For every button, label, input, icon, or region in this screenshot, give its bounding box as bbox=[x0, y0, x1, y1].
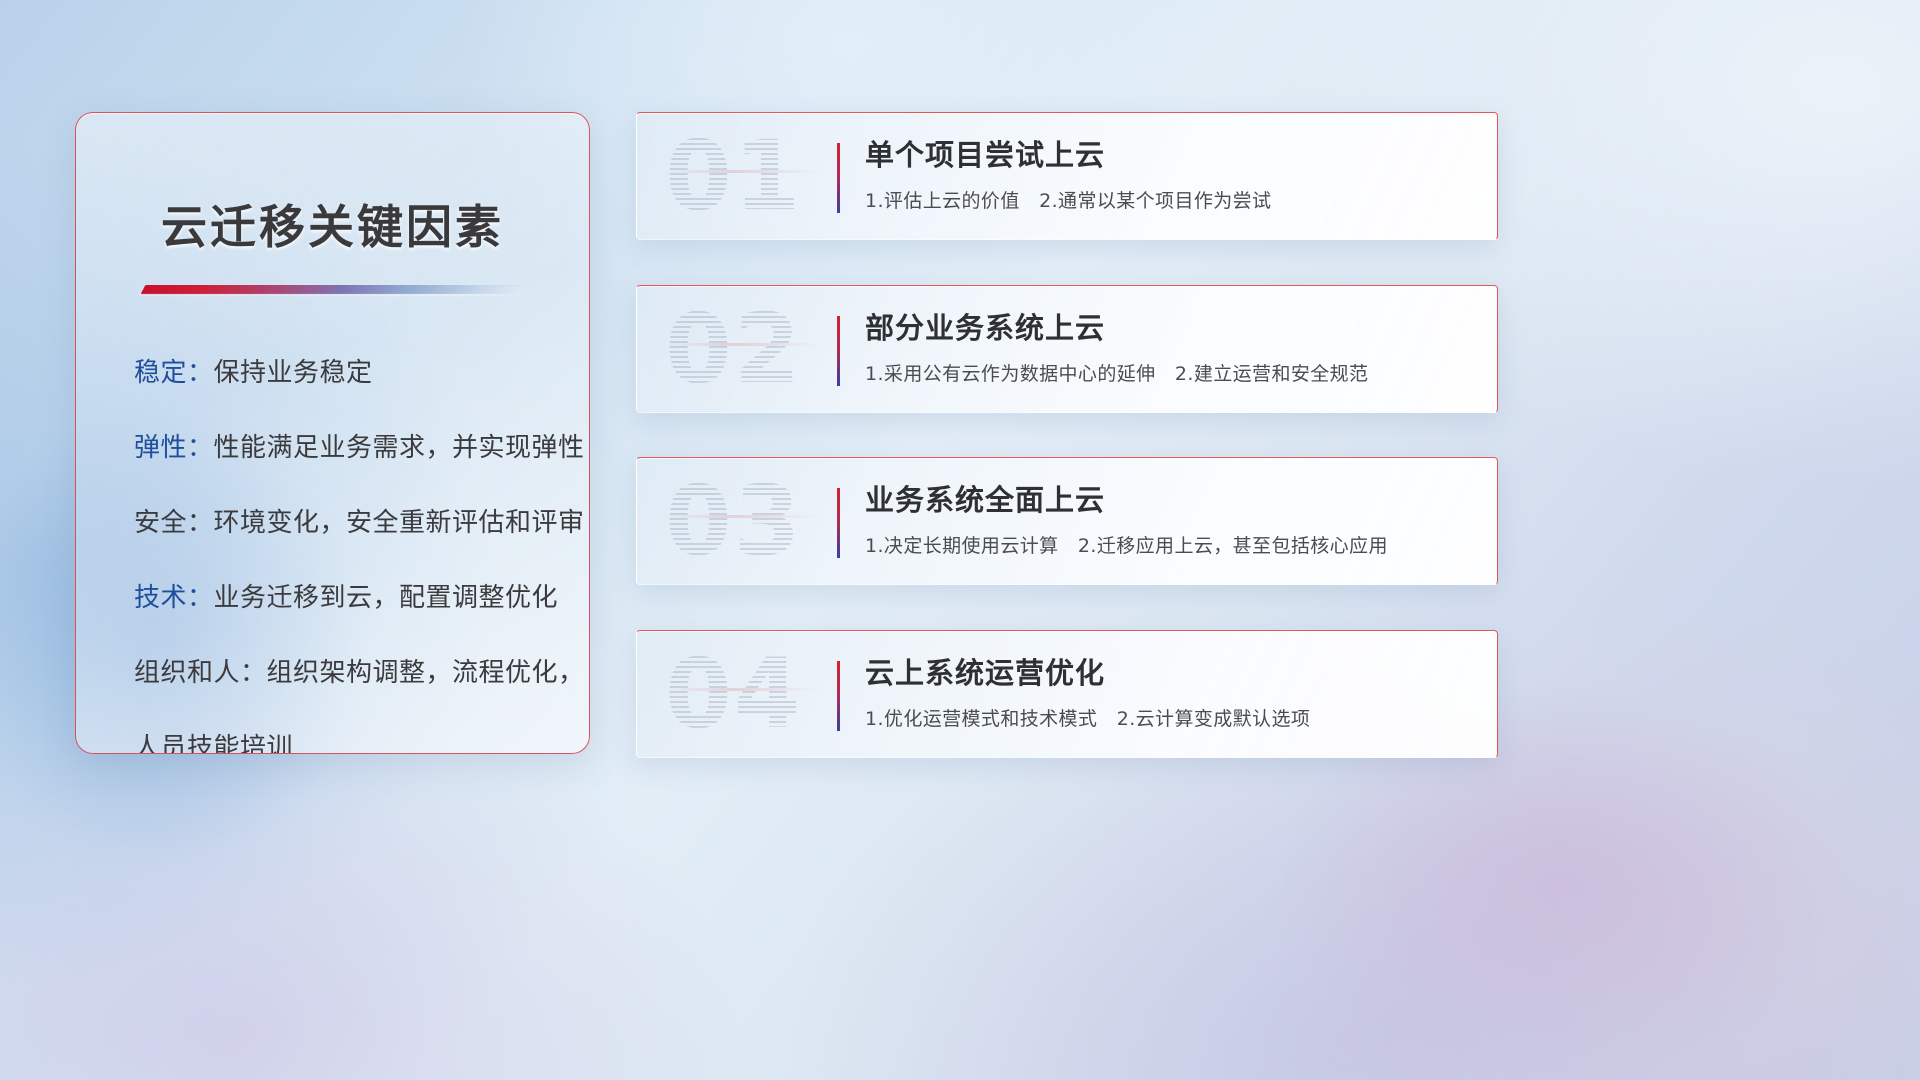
slide-background: 云迁移关键因素 稳定：保持业务稳定 弹性：性能满足业务需求，并实现弹性 安全：环… bbox=[0, 0, 1920, 1080]
factor-label: 技术： bbox=[134, 583, 214, 613]
step-body: 业务系统全面上云 1.决定长期使用云计算 2.迁移应用上云，甚至包括核心应用 bbox=[865, 484, 1479, 558]
step-divider bbox=[837, 661, 840, 731]
key-factors-list: 稳定：保持业务稳定 弹性：性能满足业务需求，并实现弹性 安全：环境变化，安全重新… bbox=[118, 360, 547, 754]
factor-label: 稳定： bbox=[134, 358, 214, 388]
step-body: 云上系统运营优化 1.优化运营模式和技术模式 2.云计算变成默认选项 bbox=[865, 657, 1479, 731]
step-divider bbox=[837, 143, 840, 213]
factor-text: 人员技能培训 bbox=[134, 733, 293, 754]
step-subtitle: 1.优化运营模式和技术模式 2.云计算变成默认选项 bbox=[865, 704, 1479, 731]
step-number: 04 bbox=[665, 646, 803, 742]
list-item: 稳定：保持业务稳定 bbox=[134, 360, 547, 386]
factor-text: 组织架构调整，流程优化， bbox=[267, 658, 585, 688]
factor-label: 组织和人： bbox=[134, 658, 267, 688]
list-item: 安全：环境变化，安全重新评估和评审 bbox=[134, 510, 547, 536]
list-item: 弹性：性能满足业务需求，并实现弹性 bbox=[134, 435, 547, 461]
step-card[interactable]: 03 业务系统全面上云 1.决定长期使用云计算 2.迁移应用上云，甚至包括核心应… bbox=[636, 457, 1498, 585]
list-item: 人员技能培训 bbox=[134, 735, 547, 754]
step-divider bbox=[837, 488, 840, 558]
step-title: 云上系统运营优化 bbox=[865, 657, 1479, 690]
step-card[interactable]: 04 云上系统运营优化 1.优化运营模式和技术模式 2.云计算变成默认选项 bbox=[636, 630, 1498, 758]
step-card[interactable]: 02 部分业务系统上云 1.采用公有云作为数据中心的延伸 2.建立运营和安全规范 bbox=[636, 285, 1498, 413]
list-item: 组织和人：组织架构调整，流程优化， bbox=[134, 660, 547, 686]
title-accent-bar bbox=[140, 285, 525, 294]
factor-label: 安全： bbox=[134, 508, 214, 538]
step-number: 02 bbox=[665, 301, 803, 397]
step-body: 单个项目尝试上云 1.评估上云的价值 2.通常以某个项目作为尝试 bbox=[865, 139, 1479, 213]
step-subtitle: 1.采用公有云作为数据中心的延伸 2.建立运营和安全规范 bbox=[865, 359, 1479, 386]
key-factors-panel: 云迁移关键因素 稳定：保持业务稳定 弹性：性能满足业务需求，并实现弹性 安全：环… bbox=[75, 112, 590, 754]
factor-label: 弹性： bbox=[134, 433, 214, 463]
factor-text: 环境变化，安全重新评估和评审 bbox=[214, 508, 585, 538]
factor-text: 性能满足业务需求，并实现弹性 bbox=[214, 433, 585, 463]
step-number: 03 bbox=[665, 473, 803, 569]
list-item: 技术：业务迁移到云，配置调整优化 bbox=[134, 585, 547, 611]
step-divider bbox=[837, 316, 840, 386]
step-subtitle: 1.评估上云的价值 2.通常以某个项目作为尝试 bbox=[865, 186, 1479, 213]
step-card[interactable]: 01 单个项目尝试上云 1.评估上云的价值 2.通常以某个项目作为尝试 bbox=[636, 112, 1498, 240]
step-title: 单个项目尝试上云 bbox=[865, 139, 1479, 172]
step-number: 01 bbox=[665, 128, 803, 224]
factor-text: 业务迁移到云，配置调整优化 bbox=[214, 583, 559, 613]
page-title: 云迁移关键因素 bbox=[118, 191, 547, 257]
step-subtitle: 1.决定长期使用云计算 2.迁移应用上云，甚至包括核心应用 bbox=[865, 531, 1479, 558]
step-title: 部分业务系统上云 bbox=[865, 312, 1479, 345]
step-body: 部分业务系统上云 1.采用公有云作为数据中心的延伸 2.建立运营和安全规范 bbox=[865, 312, 1479, 386]
factor-text: 保持业务稳定 bbox=[214, 358, 373, 388]
key-factors-panel-inner: 云迁移关键因素 稳定：保持业务稳定 弹性：性能满足业务需求，并实现弹性 安全：环… bbox=[76, 113, 589, 753]
step-title: 业务系统全面上云 bbox=[865, 484, 1479, 517]
